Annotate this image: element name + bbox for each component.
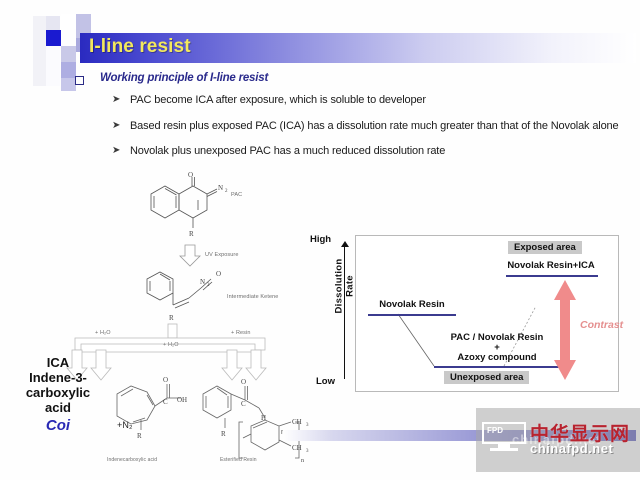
- svg-text:CH: CH: [292, 418, 302, 426]
- slide-canvas: I-line resist Working principle of I-lin…: [0, 0, 640, 480]
- svg-text:C: C: [163, 398, 168, 406]
- level-line-pac-azoxy: [434, 366, 562, 368]
- svg-text:n: n: [301, 458, 304, 464]
- chart-ytick-low: Low: [316, 376, 335, 387]
- esterified-resin-caption: Esterified Resin: [220, 457, 257, 463]
- bullet-text: PAC become ICA after exposure, which is …: [130, 93, 426, 108]
- ica-extra-text: Coi: [10, 418, 106, 433]
- bullet-text: Novolak plus unexposed PAC has a much re…: [130, 144, 445, 159]
- intermediate-ketene-label: Intermediate Ketene: [227, 294, 278, 300]
- list-item: ➤ Novolak plus unexposed PAC has a much …: [112, 144, 620, 159]
- svg-text:R: R: [189, 230, 194, 238]
- uv-exposure-label: UV Exposure: [205, 252, 239, 258]
- svg-text:3: 3: [306, 449, 309, 454]
- level-line-novolak-ica: [506, 275, 598, 277]
- svg-text:N: N: [200, 278, 205, 286]
- svg-text:R: R: [169, 314, 174, 322]
- chart-y-axis-label: Dissolution Rate: [334, 249, 356, 324]
- dissolution-rate-chart: Exposed area Novolak Resin+ICA Novolak R…: [355, 235, 619, 392]
- svg-text:OH: OH: [177, 396, 187, 404]
- subheading-text: Working principle of I-line resist: [100, 72, 268, 84]
- svg-text:H: H: [261, 414, 266, 422]
- level-label-novolak-ica: Novolak Resin+ICA: [488, 260, 614, 271]
- arrow-bullet-icon: ➤: [112, 119, 121, 133]
- bullet-list: ➤ PAC become ICA after exposure, which i…: [112, 93, 620, 170]
- watermark: FPD chinafpd.net 中华显示网 chinafpd.net: [476, 408, 640, 472]
- svg-text:O: O: [163, 376, 168, 384]
- reagent-water-center-label: + H₂O: [163, 342, 179, 348]
- svg-text:O: O: [241, 378, 246, 386]
- chart-ytick-high: High: [310, 234, 331, 245]
- svg-text:O: O: [216, 270, 221, 278]
- list-item: ➤ Based resin plus exposed PAC (ICA) has…: [112, 119, 620, 134]
- svg-text:O: O: [188, 172, 193, 179]
- svg-text:N: N: [218, 184, 223, 192]
- svg-text:2: 2: [225, 189, 228, 194]
- fpd-logo-text: FPD: [487, 426, 503, 435]
- svg-text:CH: CH: [292, 444, 302, 452]
- ica-name-line-2: carboxylic: [10, 385, 106, 400]
- contrast-annotation: Contrast: [580, 319, 623, 331]
- list-item: ➤ PAC become ICA after exposure, which i…: [112, 93, 620, 108]
- plus-n2-label: +N₂: [117, 420, 133, 430]
- slide-title-bar: I-line resist: [80, 33, 636, 63]
- ica-name-line-3: acid: [10, 400, 106, 415]
- svg-text:R: R: [221, 430, 226, 438]
- level-line-novolak-resin: [368, 314, 456, 316]
- bullet-text: Based resin plus exposed PAC (ICA) has a…: [130, 119, 618, 134]
- monitor-base: [490, 448, 518, 451]
- level-label-pac-line-3: Azoxy compound: [422, 352, 572, 363]
- arrow-bullet-icon: ➤: [112, 93, 121, 107]
- svg-text:R: R: [137, 432, 142, 440]
- contrast-double-arrow-icon: [552, 280, 578, 380]
- ica-name-block: ICA Indene-3- carboxylic acid Coi: [10, 355, 106, 433]
- square-bullet-icon: [75, 76, 84, 85]
- pac-label: PAC: [231, 192, 242, 198]
- watermark-domain: chinafpd.net: [530, 441, 613, 456]
- svg-text:3: 3: [306, 423, 309, 428]
- svg-text:C: C: [241, 400, 246, 408]
- reagent-resin-label: + Resin: [231, 330, 251, 336]
- subheading-row: Working principle of I-line resist: [75, 72, 615, 85]
- arrow-bullet-icon: ➤: [112, 144, 121, 158]
- indenecarboxylic-acid-caption: Indenecarboxylic acid: [107, 457, 157, 463]
- ica-abbrev: ICA: [10, 355, 106, 370]
- status-badge-exposed: Exposed area: [508, 241, 582, 254]
- chart-y-axis: Dissolution Rate: [333, 235, 355, 390]
- level-label-novolak-resin: Novolak Resin: [366, 299, 458, 310]
- page-title: I-line resist: [89, 36, 191, 58]
- status-badge-unexposed: Unexposed area: [444, 371, 529, 384]
- reagent-water-left-label: + H₂O: [95, 330, 111, 336]
- ica-name-line-1: Indene-3-: [10, 370, 106, 385]
